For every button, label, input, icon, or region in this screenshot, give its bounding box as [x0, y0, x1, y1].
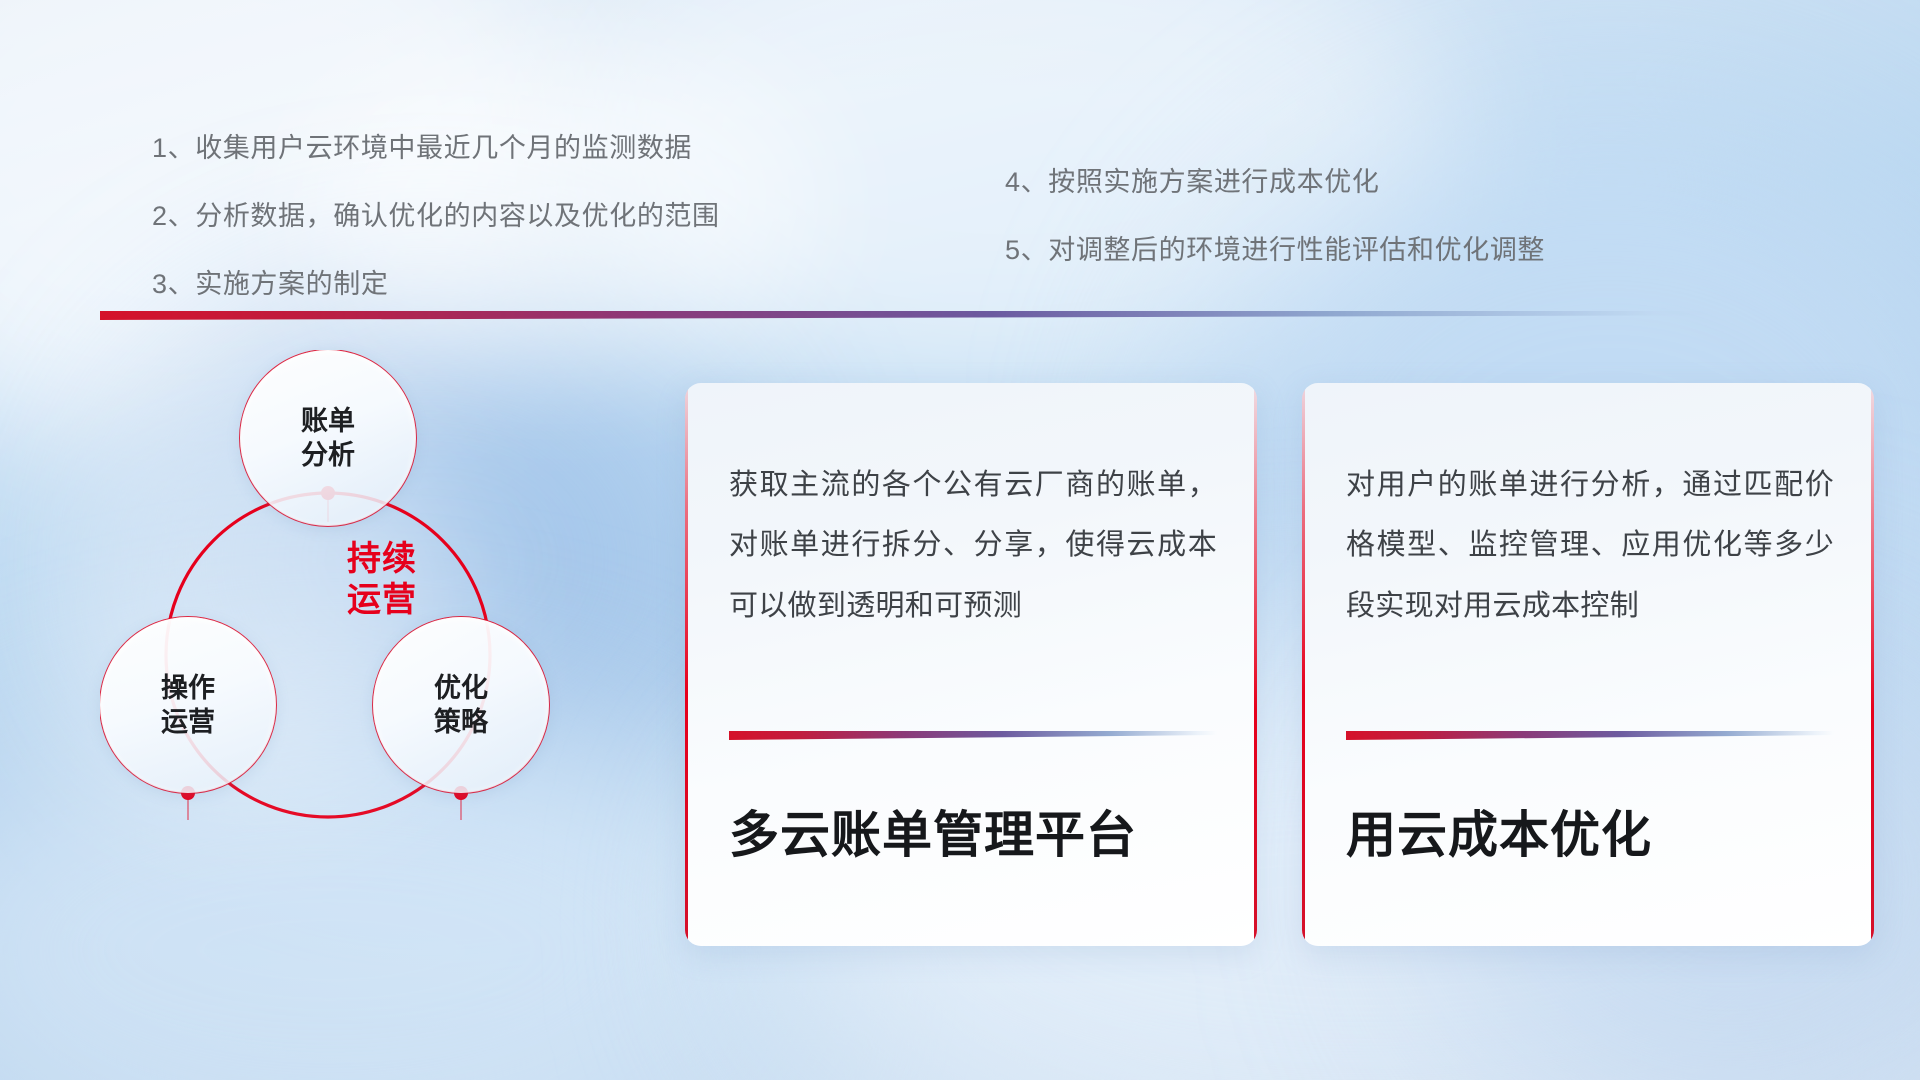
step-item: 4、按照实施方案进行成本优化	[1005, 160, 1545, 199]
steps-list-right: 4、按照实施方案进行成本优化 5、对调整后的环境进行性能评估和优化调整	[1005, 160, 1545, 296]
venn-node-label-line2: 运营	[161, 705, 215, 739]
venn-center-label: 持续 运营	[302, 539, 462, 622]
venn-node-label-line2: 策略	[434, 705, 488, 739]
venn-center-label-line1: 持续	[302, 539, 462, 580]
venn-node-label-line2: 分析	[301, 438, 355, 472]
card-title: 用云成本优化	[1346, 795, 1844, 867]
feature-card-cost-optimization[interactable]: 对用户的账单进行分析，通过匹配价格模型、监控管理、应用优化等多少段实现对用云成本…	[1302, 383, 1874, 946]
card-body-text: 对用户的账单进行分析，通过匹配价格模型、监控管理、应用优化等多少段实现对用云成本…	[1346, 455, 1834, 636]
step-item: 5、对调整后的环境进行性能评估和优化调整	[1005, 228, 1545, 267]
venn-node-bill-analysis[interactable]: 账单 分析	[240, 350, 416, 526]
venn-node-optimization-strategy[interactable]: 优化 策略	[373, 617, 549, 793]
venn-center-label-line2: 运营	[302, 580, 462, 621]
venn-node-label-line1: 操作	[161, 671, 215, 705]
venn-node-operations[interactable]: 操作 运营	[100, 617, 276, 793]
step-item: 2、分析数据，确认优化的内容以及优化的范围	[152, 194, 720, 233]
card-divider-rule	[1346, 731, 1834, 740]
venn-node-label-line1: 优化	[434, 671, 488, 705]
step-item: 3、实施方案的制定	[152, 262, 720, 301]
card-body-text: 获取主流的各个公有云厂商的账单，对账单进行拆分、分享，使得云成本可以做到透明和可…	[729, 455, 1217, 636]
continuous-operation-diagram: 账单 分析 操作 运营 优化 策略 持续 运营	[100, 350, 630, 940]
card-title: 多云账单管理平台	[729, 795, 1227, 867]
venn-node-label-line1: 账单	[301, 404, 355, 438]
step-item: 1、收集用户云环境中最近几个月的监测数据	[152, 126, 720, 165]
steps-list-left: 1、收集用户云环境中最近几个月的监测数据 2、分析数据，确认优化的内容以及优化的…	[152, 126, 720, 330]
feature-card-multicloud-billing[interactable]: 获取主流的各个公有云厂商的账单，对账单进行拆分、分享，使得云成本可以做到透明和可…	[685, 383, 1257, 946]
card-divider-rule	[729, 731, 1217, 740]
